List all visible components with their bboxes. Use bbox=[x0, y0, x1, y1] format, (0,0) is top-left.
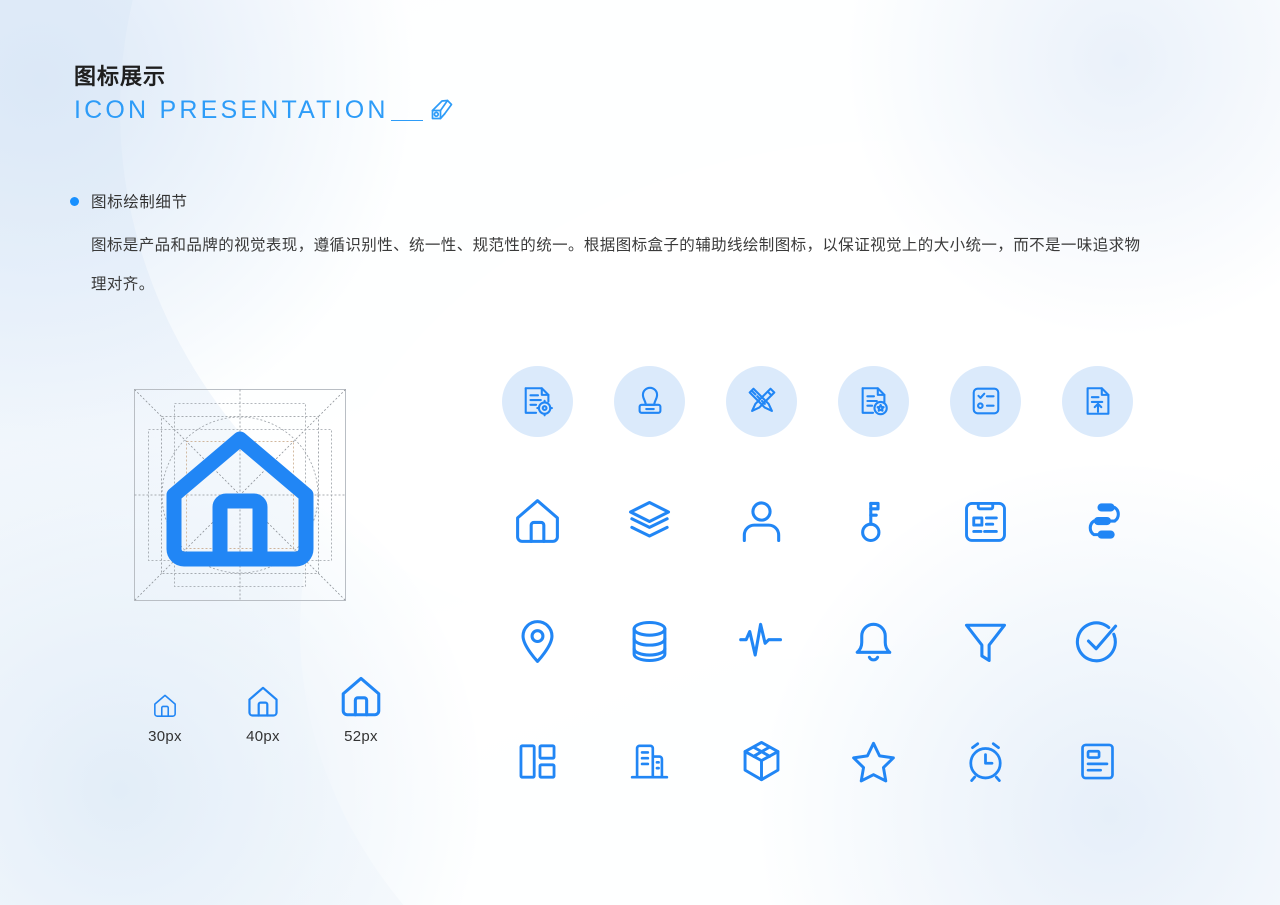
size-label-40: 40px bbox=[246, 728, 280, 745]
layers-icon[interactable] bbox=[614, 486, 685, 557]
checklist-icon[interactable] bbox=[950, 366, 1021, 437]
icon-cell[interactable] bbox=[838, 366, 950, 436]
icon-cell[interactable] bbox=[726, 486, 838, 556]
icon-cell[interactable] bbox=[502, 366, 614, 436]
description-block: 图标绘制细节 图标是产品和品牌的视觉表现，遵循识别性、统一性、规范性的统一。根据… bbox=[70, 190, 1150, 304]
size-sample-40: 40px bbox=[232, 672, 294, 745]
page-title-cn: 图标展示 bbox=[74, 62, 454, 92]
icon-cell[interactable] bbox=[950, 726, 1062, 796]
icon-cell[interactable] bbox=[950, 486, 1062, 556]
home-icon bbox=[153, 672, 177, 718]
icon-cell[interactable] bbox=[614, 486, 726, 556]
star-icon[interactable] bbox=[838, 726, 909, 797]
description-heading: 图标绘制细节 bbox=[91, 190, 188, 212]
document-upload-icon[interactable] bbox=[1062, 366, 1133, 437]
key-icon[interactable] bbox=[838, 486, 909, 557]
icon-cell[interactable] bbox=[950, 606, 1062, 676]
cube-icon[interactable] bbox=[726, 726, 797, 797]
icon-cell[interactable] bbox=[726, 726, 838, 796]
dashboard-layout-icon[interactable] bbox=[502, 726, 573, 797]
icon-cell[interactable] bbox=[726, 606, 838, 676]
icon-cell[interactable] bbox=[838, 486, 950, 556]
stamp-icon[interactable] bbox=[614, 366, 685, 437]
icon-matrix bbox=[502, 366, 1174, 796]
pencil-ruler-icon[interactable] bbox=[726, 366, 797, 437]
icon-cell[interactable] bbox=[838, 726, 950, 796]
icon-size-comparison: 30px 40px 52px bbox=[134, 672, 392, 745]
icon-cell[interactable] bbox=[502, 726, 614, 796]
alarm-clock-icon[interactable] bbox=[950, 726, 1021, 797]
database-icon[interactable] bbox=[614, 606, 685, 677]
page-subtitle-row: ICON PRESENTATION bbox=[74, 94, 454, 126]
icon-cell[interactable] bbox=[950, 366, 1062, 436]
pen-nib-icon bbox=[420, 94, 454, 124]
icon-cell[interactable] bbox=[1062, 606, 1174, 676]
user-icon[interactable] bbox=[726, 486, 797, 557]
pulse-icon[interactable] bbox=[726, 606, 797, 677]
icon-cell[interactable] bbox=[502, 486, 614, 556]
icon-cell[interactable] bbox=[502, 606, 614, 676]
home-icon bbox=[247, 672, 279, 718]
icon-cell[interactable] bbox=[726, 366, 838, 436]
page-header: 图标展示 ICON PRESENTATION bbox=[74, 62, 454, 126]
icon-cell[interactable] bbox=[614, 606, 726, 676]
icon-cell[interactable] bbox=[614, 366, 726, 436]
size-label-30: 30px bbox=[148, 728, 182, 745]
size-sample-30: 30px bbox=[134, 672, 196, 745]
document-badge-icon[interactable] bbox=[838, 366, 909, 437]
article-icon[interactable] bbox=[1062, 726, 1133, 797]
clipboard-chart-icon[interactable] bbox=[950, 486, 1021, 557]
filter-icon[interactable] bbox=[950, 606, 1021, 677]
location-pin-icon[interactable] bbox=[502, 606, 573, 677]
bullet-dot-icon bbox=[70, 197, 79, 206]
icon-cell[interactable] bbox=[838, 606, 950, 676]
icon-cell[interactable] bbox=[1062, 726, 1174, 796]
icon-cell[interactable] bbox=[1062, 486, 1174, 556]
building-icon[interactable] bbox=[614, 726, 685, 797]
description-body: 图标是产品和品牌的视觉表现，遵循识别性、统一性、规范性的统一。根据图标盒子的辅助… bbox=[91, 226, 1150, 304]
icon-cell[interactable] bbox=[614, 726, 726, 796]
size-sample-52: 52px bbox=[330, 672, 392, 745]
document-settings-icon[interactable] bbox=[502, 366, 573, 437]
bell-icon[interactable] bbox=[838, 606, 909, 677]
page-title-en: ICON PRESENTATION bbox=[74, 94, 389, 126]
size-label-52: 52px bbox=[344, 728, 378, 745]
icon-cell[interactable] bbox=[1062, 366, 1174, 436]
workflow-icon[interactable] bbox=[1062, 486, 1133, 557]
header-underline bbox=[391, 120, 423, 121]
icon-construction-grid bbox=[134, 389, 346, 601]
check-circle-icon[interactable] bbox=[1062, 606, 1133, 677]
description-heading-row: 图标绘制细节 bbox=[70, 190, 1150, 212]
home-icon bbox=[340, 672, 382, 718]
icon-presentation-page: 图标展示 ICON PRESENTATION 图标绘制细节 图标是产品和品牌的视… bbox=[0, 0, 1280, 905]
home-icon[interactable] bbox=[502, 486, 573, 557]
